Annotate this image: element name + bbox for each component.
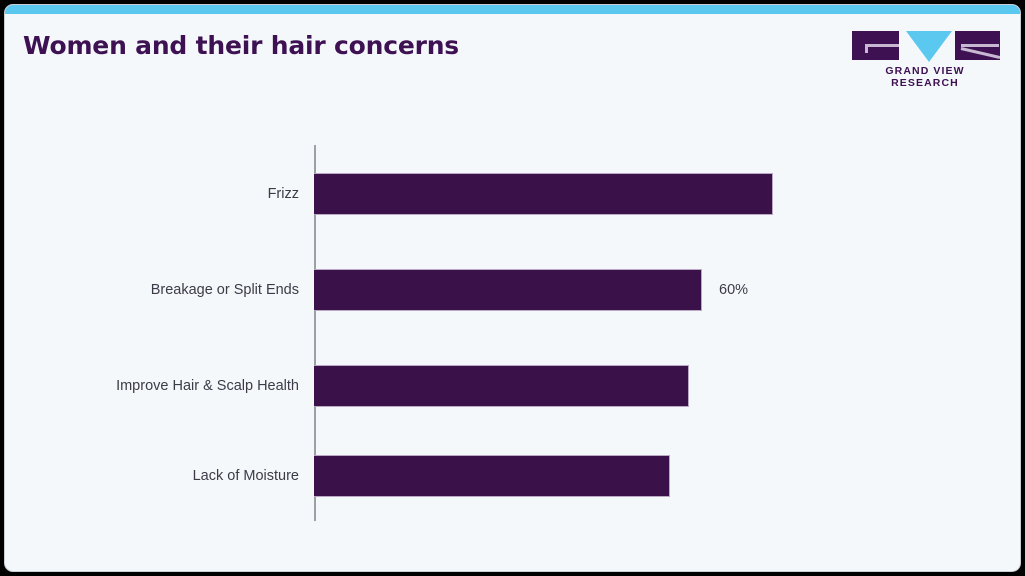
bar-row: Frizz — [5, 173, 1021, 215]
bar-category-label: Lack of Moisture — [193, 455, 299, 497]
bar-category-label: Frizz — [268, 173, 299, 215]
bar[interactable] — [314, 269, 702, 311]
bar[interactable] — [314, 455, 670, 497]
bar-row: Lack of Moisture — [5, 455, 1021, 497]
bar-category-label: Breakage or Split Ends — [151, 269, 299, 311]
plot-area: FrizzBreakage or Split Ends60%Improve Ha… — [5, 145, 1021, 521]
bar-category-label: Improve Hair & Scalp Health — [116, 365, 299, 407]
bar-row: Improve Hair & Scalp Health — [5, 365, 1021, 407]
chart-card: Women and their hair concerns GRAND VIEW… — [4, 4, 1021, 572]
horizontal-bar-chart: FrizzBreakage or Split Ends60%Improve Ha… — [5, 5, 1020, 571]
bar-value-label: 60% — [719, 269, 748, 311]
bar[interactable] — [314, 365, 689, 407]
bar[interactable] — [314, 173, 773, 215]
bar-row: Breakage or Split Ends60% — [5, 269, 1021, 311]
